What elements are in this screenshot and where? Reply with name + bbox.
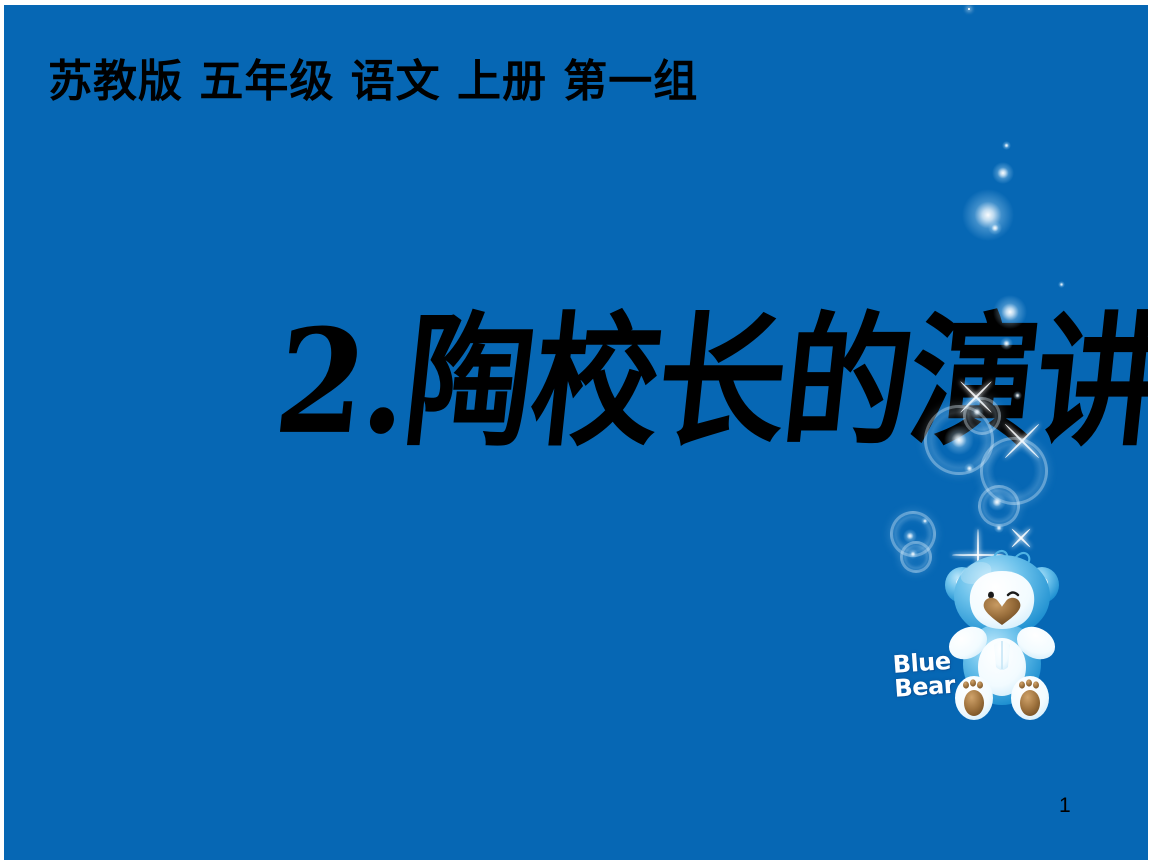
bubble-ring-icon [890, 511, 936, 557]
bubble-glow-icon [962, 189, 1014, 241]
bubble-glow-icon [994, 523, 1004, 533]
bubble-glow-icon [921, 517, 929, 525]
bubble-glow-icon [988, 221, 1002, 235]
bubble-ring-icon [900, 541, 932, 573]
blue-bear-wordmark: Blue Bear [892, 647, 976, 714]
bear-eye-left [988, 592, 994, 599]
wordmark-line-2: Bear [894, 672, 976, 702]
slide-header-text: 苏教版 五年级 语文 上册 第一组 [48, 57, 698, 108]
bubble-glow-icon [903, 529, 917, 543]
bubble-glow-icon [1058, 281, 1065, 288]
slide-title: 2.陶校长的演讲 [267, 293, 1148, 472]
sparkle-icon [968, 8, 971, 11]
bear-paw-pad-right [1020, 690, 1040, 716]
bubble-glow-icon [1002, 141, 1011, 150]
bubble-glow-icon [992, 162, 1014, 184]
bubble-glow-icon [908, 549, 918, 559]
bubble-glow-icon [988, 493, 1006, 511]
bubble-ring-icon [978, 485, 1020, 527]
page-number: 1 [1059, 794, 1071, 818]
slide-canvas: 苏教版 五年级 语文 上册 第一组 2.陶校长的演讲 [4, 5, 1148, 860]
